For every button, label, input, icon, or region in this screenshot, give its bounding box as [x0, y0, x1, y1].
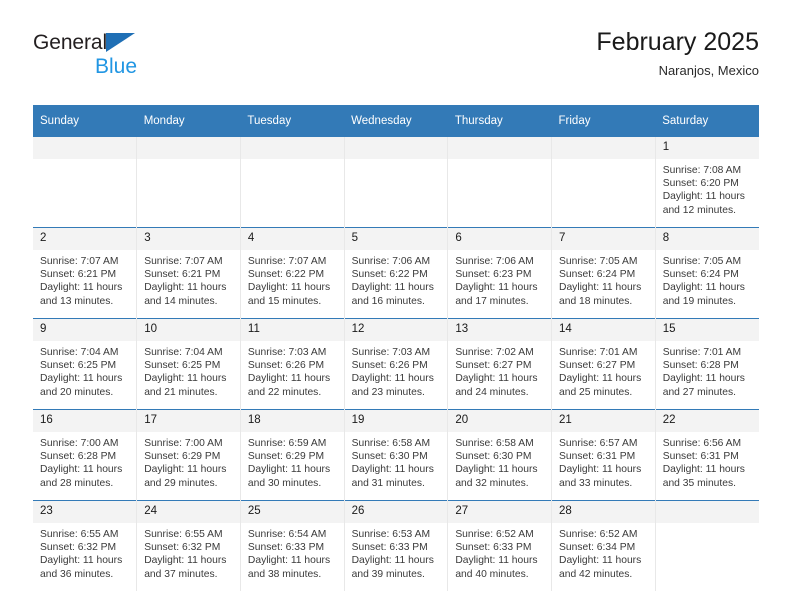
calendar-day-cell[interactable]: 14Sunrise: 7:01 AMSunset: 6:27 PMDayligh…: [552, 319, 656, 410]
day-number: 26: [345, 501, 448, 523]
day-daylight-line: Daylight: 11 hours: [352, 554, 442, 567]
day-daylight-line: and 16 minutes.: [352, 295, 442, 308]
day-number: 24: [137, 501, 240, 523]
weekday-header-monday: Monday: [137, 105, 241, 137]
day-sunrise-line: Sunrise: 7:03 AM: [352, 346, 442, 359]
day-daylight-line: and 29 minutes.: [144, 477, 234, 490]
day-sunset-line: Sunset: 6:29 PM: [144, 450, 234, 463]
day-details: Sunrise: 6:52 AMSunset: 6:34 PMDaylight:…: [552, 523, 655, 581]
day-sunset-line: Sunset: 6:22 PM: [352, 268, 442, 281]
day-sunset-line: Sunset: 6:33 PM: [248, 541, 338, 554]
day-details: Sunrise: 7:00 AMSunset: 6:29 PMDaylight:…: [137, 432, 240, 490]
day-number: 20: [448, 410, 551, 432]
day-sunrise-line: Sunrise: 6:57 AM: [559, 437, 649, 450]
calendar-day-cell[interactable]: 26Sunrise: 6:53 AMSunset: 6:33 PMDayligh…: [344, 501, 448, 592]
calendar-day-cell[interactable]: 1Sunrise: 7:08 AMSunset: 6:20 PMDaylight…: [655, 137, 759, 228]
day-details: Sunrise: 6:54 AMSunset: 6:33 PMDaylight:…: [241, 523, 344, 581]
day-daylight-line: and 33 minutes.: [559, 477, 649, 490]
day-daylight-line: Daylight: 11 hours: [248, 372, 338, 385]
day-sunset-line: Sunset: 6:34 PM: [559, 541, 649, 554]
day-daylight-line: Daylight: 11 hours: [455, 281, 545, 294]
calendar-body: 1Sunrise: 7:08 AMSunset: 6:20 PMDaylight…: [33, 137, 759, 591]
day-daylight-line: and 17 minutes.: [455, 295, 545, 308]
day-daylight-line: and 25 minutes.: [559, 386, 649, 399]
day-number: 10: [137, 319, 240, 341]
day-sunrise-line: Sunrise: 7:06 AM: [455, 255, 545, 268]
day-sunset-line: Sunset: 6:21 PM: [40, 268, 130, 281]
calendar-week-row: 2Sunrise: 7:07 AMSunset: 6:21 PMDaylight…: [33, 228, 759, 319]
day-daylight-line: Daylight: 11 hours: [455, 554, 545, 567]
day-details: Sunrise: 6:55 AMSunset: 6:32 PMDaylight:…: [33, 523, 136, 581]
day-daylight-line: and 39 minutes.: [352, 568, 442, 581]
day-daylight-line: Daylight: 11 hours: [559, 281, 649, 294]
day-daylight-line: Daylight: 11 hours: [352, 463, 442, 476]
day-sunset-line: Sunset: 6:32 PM: [144, 541, 234, 554]
calendar-day-cell[interactable]: 13Sunrise: 7:02 AMSunset: 6:27 PMDayligh…: [448, 319, 552, 410]
day-sunrise-line: Sunrise: 7:03 AM: [248, 346, 338, 359]
day-details: Sunrise: 7:02 AMSunset: 6:27 PMDaylight:…: [448, 341, 551, 399]
calendar-cell-empty: [137, 137, 241, 228]
day-sunset-line: Sunset: 6:26 PM: [248, 359, 338, 372]
day-sunrise-line: Sunrise: 7:05 AM: [559, 255, 649, 268]
day-daylight-line: and 30 minutes.: [248, 477, 338, 490]
weekday-header-wednesday: Wednesday: [344, 105, 448, 137]
calendar-day-cell[interactable]: 27Sunrise: 6:52 AMSunset: 6:33 PMDayligh…: [448, 501, 552, 592]
day-sunrise-line: Sunrise: 6:52 AM: [559, 528, 649, 541]
day-number: 7: [552, 228, 655, 250]
day-sunset-line: Sunset: 6:31 PM: [663, 450, 753, 463]
day-daylight-line: and 28 minutes.: [40, 477, 130, 490]
calendar-cell-empty: [33, 137, 137, 228]
day-daylight-line: Daylight: 11 hours: [559, 372, 649, 385]
day-daylight-line: and 38 minutes.: [248, 568, 338, 581]
day-details: Sunrise: 6:53 AMSunset: 6:33 PMDaylight:…: [345, 523, 448, 581]
day-details: Sunrise: 7:03 AMSunset: 6:26 PMDaylight:…: [345, 341, 448, 399]
page-subtitle: Naranjos, Mexico: [596, 63, 759, 78]
day-sunset-line: Sunset: 6:29 PM: [248, 450, 338, 463]
day-sunrise-line: Sunrise: 6:58 AM: [352, 437, 442, 450]
day-daylight-line: and 24 minutes.: [455, 386, 545, 399]
calendar-header-row: Sunday Monday Tuesday Wednesday Thursday…: [33, 105, 759, 137]
day-daylight-line: Daylight: 11 hours: [559, 554, 649, 567]
day-number: 4: [241, 228, 344, 250]
day-details: Sunrise: 6:58 AMSunset: 6:30 PMDaylight:…: [345, 432, 448, 490]
day-daylight-line: Daylight: 11 hours: [352, 372, 442, 385]
day-sunrise-line: Sunrise: 7:07 AM: [40, 255, 130, 268]
calendar-day-cell[interactable]: 3Sunrise: 7:07 AMSunset: 6:21 PMDaylight…: [137, 228, 241, 319]
day-daylight-line: and 42 minutes.: [559, 568, 649, 581]
day-number: [137, 137, 240, 159]
day-number: 21: [552, 410, 655, 432]
day-number: 5: [345, 228, 448, 250]
calendar-week-row: 9Sunrise: 7:04 AMSunset: 6:25 PMDaylight…: [33, 319, 759, 410]
calendar-day-cell[interactable]: 15Sunrise: 7:01 AMSunset: 6:28 PMDayligh…: [655, 319, 759, 410]
brand-logo[interactable]: General Blue: [33, 32, 243, 88]
day-details: Sunrise: 6:52 AMSunset: 6:33 PMDaylight:…: [448, 523, 551, 581]
calendar-day-cell[interactable]: 9Sunrise: 7:04 AMSunset: 6:25 PMDaylight…: [33, 319, 137, 410]
calendar-week-row: 23Sunrise: 6:55 AMSunset: 6:32 PMDayligh…: [33, 501, 759, 592]
day-daylight-line: Daylight: 11 hours: [144, 372, 234, 385]
day-details: Sunrise: 7:07 AMSunset: 6:21 PMDaylight:…: [33, 250, 136, 308]
day-sunrise-line: Sunrise: 7:04 AM: [40, 346, 130, 359]
day-number: 19: [345, 410, 448, 432]
day-sunrise-line: Sunrise: 7:06 AM: [352, 255, 442, 268]
calendar-table: Sunday Monday Tuesday Wednesday Thursday…: [33, 105, 759, 591]
day-sunset-line: Sunset: 6:24 PM: [663, 268, 753, 281]
calendar-day-cell[interactable]: 2Sunrise: 7:07 AMSunset: 6:21 PMDaylight…: [33, 228, 137, 319]
day-daylight-line: Daylight: 11 hours: [559, 463, 649, 476]
day-daylight-line: Daylight: 11 hours: [144, 554, 234, 567]
day-number: [552, 137, 655, 159]
day-daylight-line: and 20 minutes.: [40, 386, 130, 399]
day-number: 22: [656, 410, 759, 432]
day-daylight-line: and 18 minutes.: [559, 295, 649, 308]
day-sunset-line: Sunset: 6:21 PM: [144, 268, 234, 281]
day-details: Sunrise: 7:07 AMSunset: 6:22 PMDaylight:…: [241, 250, 344, 308]
day-daylight-line: Daylight: 11 hours: [248, 463, 338, 476]
day-number: 11: [241, 319, 344, 341]
calendar-day-cell[interactable]: 21Sunrise: 6:57 AMSunset: 6:31 PMDayligh…: [552, 410, 656, 501]
title-block: February 2025 Naranjos, Mexico: [596, 28, 759, 78]
day-sunrise-line: Sunrise: 7:07 AM: [248, 255, 338, 268]
calendar-day-cell[interactable]: 18Sunrise: 6:59 AMSunset: 6:29 PMDayligh…: [240, 410, 344, 501]
calendar-day-cell[interactable]: 23Sunrise: 6:55 AMSunset: 6:32 PMDayligh…: [33, 501, 137, 592]
page-title: February 2025: [596, 28, 759, 57]
day-daylight-line: Daylight: 11 hours: [663, 281, 753, 294]
day-number: 17: [137, 410, 240, 432]
day-sunrise-line: Sunrise: 7:07 AM: [144, 255, 234, 268]
day-number: 6: [448, 228, 551, 250]
day-daylight-line: and 22 minutes.: [248, 386, 338, 399]
day-daylight-line: Daylight: 11 hours: [144, 281, 234, 294]
day-number: [241, 137, 344, 159]
day-sunrise-line: Sunrise: 6:56 AM: [663, 437, 753, 450]
calendar-day-cell[interactable]: 10Sunrise: 7:04 AMSunset: 6:25 PMDayligh…: [137, 319, 241, 410]
weekday-header-friday: Friday: [552, 105, 656, 137]
day-daylight-line: Daylight: 11 hours: [455, 463, 545, 476]
day-number: 15: [656, 319, 759, 341]
calendar-day-cell[interactable]: 17Sunrise: 7:00 AMSunset: 6:29 PMDayligh…: [137, 410, 241, 501]
day-number: 8: [656, 228, 759, 250]
day-sunrise-line: Sunrise: 7:00 AM: [144, 437, 234, 450]
calendar-day-cell[interactable]: 16Sunrise: 7:00 AMSunset: 6:28 PMDayligh…: [33, 410, 137, 501]
calendar-cell-empty: [448, 137, 552, 228]
calendar-day-cell[interactable]: 19Sunrise: 6:58 AMSunset: 6:30 PMDayligh…: [344, 410, 448, 501]
day-number: 25: [241, 501, 344, 523]
day-sunrise-line: Sunrise: 7:08 AM: [663, 164, 753, 177]
day-sunrise-line: Sunrise: 7:04 AM: [144, 346, 234, 359]
calendar-cell-empty: [240, 137, 344, 228]
day-sunrise-line: Sunrise: 7:01 AM: [559, 346, 649, 359]
day-details: Sunrise: 7:07 AMSunset: 6:21 PMDaylight:…: [137, 250, 240, 308]
day-details: Sunrise: 7:04 AMSunset: 6:25 PMDaylight:…: [33, 341, 136, 399]
calendar-day-cell[interactable]: 4Sunrise: 7:07 AMSunset: 6:22 PMDaylight…: [240, 228, 344, 319]
calendar-day-cell[interactable]: 7Sunrise: 7:05 AMSunset: 6:24 PMDaylight…: [552, 228, 656, 319]
day-sunrise-line: Sunrise: 6:54 AM: [248, 528, 338, 541]
day-details: Sunrise: 7:06 AMSunset: 6:23 PMDaylight:…: [448, 250, 551, 308]
day-daylight-line: Daylight: 11 hours: [248, 281, 338, 294]
day-daylight-line: and 35 minutes.: [663, 477, 753, 490]
logo-triangle-icon: [106, 33, 135, 52]
calendar-day-cell[interactable]: 20Sunrise: 6:58 AMSunset: 6:30 PMDayligh…: [448, 410, 552, 501]
day-number: 14: [552, 319, 655, 341]
day-daylight-line: Daylight: 11 hours: [40, 281, 130, 294]
calendar-day-cell[interactable]: 11Sunrise: 7:03 AMSunset: 6:26 PMDayligh…: [240, 319, 344, 410]
day-sunrise-line: Sunrise: 7:01 AM: [663, 346, 753, 359]
day-sunset-line: Sunset: 6:30 PM: [455, 450, 545, 463]
calendar-day-cell[interactable]: 24Sunrise: 6:55 AMSunset: 6:32 PMDayligh…: [137, 501, 241, 592]
calendar-cell-empty: [344, 137, 448, 228]
day-sunset-line: Sunset: 6:24 PM: [559, 268, 649, 281]
day-daylight-line: Daylight: 11 hours: [663, 372, 753, 385]
day-daylight-line: and 36 minutes.: [40, 568, 130, 581]
day-sunrise-line: Sunrise: 6:58 AM: [455, 437, 545, 450]
day-number: 27: [448, 501, 551, 523]
day-details: Sunrise: 6:58 AMSunset: 6:30 PMDaylight:…: [448, 432, 551, 490]
day-sunrise-line: Sunrise: 7:05 AM: [663, 255, 753, 268]
day-number: 12: [345, 319, 448, 341]
day-daylight-line: Daylight: 11 hours: [352, 281, 442, 294]
day-daylight-line: and 13 minutes.: [40, 295, 130, 308]
day-number: 1: [656, 137, 759, 159]
weekday-header-sunday: Sunday: [33, 105, 137, 137]
day-daylight-line: Daylight: 11 hours: [40, 554, 130, 567]
day-number: 13: [448, 319, 551, 341]
day-sunset-line: Sunset: 6:32 PM: [40, 541, 130, 554]
day-number: [656, 501, 759, 523]
day-details: Sunrise: 7:00 AMSunset: 6:28 PMDaylight:…: [33, 432, 136, 490]
weekday-header-saturday: Saturday: [655, 105, 759, 137]
day-details: Sunrise: 7:01 AMSunset: 6:28 PMDaylight:…: [656, 341, 759, 399]
calendar-day-cell[interactable]: 22Sunrise: 6:56 AMSunset: 6:31 PMDayligh…: [655, 410, 759, 501]
calendar-day-cell[interactable]: 8Sunrise: 7:05 AMSunset: 6:24 PMDaylight…: [655, 228, 759, 319]
calendar-cell-empty: [655, 501, 759, 592]
day-sunrise-line: Sunrise: 6:55 AM: [40, 528, 130, 541]
weekday-header-tuesday: Tuesday: [240, 105, 344, 137]
day-daylight-line: and 12 minutes.: [663, 204, 753, 217]
day-sunset-line: Sunset: 6:28 PM: [663, 359, 753, 372]
day-number: [345, 137, 448, 159]
day-daylight-line: and 40 minutes.: [455, 568, 545, 581]
day-details: Sunrise: 7:05 AMSunset: 6:24 PMDaylight:…: [552, 250, 655, 308]
day-sunset-line: Sunset: 6:30 PM: [352, 450, 442, 463]
page-header: General Blue February 2025 Naranjos, Mex…: [33, 28, 759, 94]
day-sunset-line: Sunset: 6:31 PM: [559, 450, 649, 463]
calendar-day-cell[interactable]: 5Sunrise: 7:06 AMSunset: 6:22 PMDaylight…: [344, 228, 448, 319]
day-sunset-line: Sunset: 6:27 PM: [559, 359, 649, 372]
day-sunset-line: Sunset: 6:25 PM: [40, 359, 130, 372]
calendar-day-cell[interactable]: 12Sunrise: 7:03 AMSunset: 6:26 PMDayligh…: [344, 319, 448, 410]
calendar-week-row: 16Sunrise: 7:00 AMSunset: 6:28 PMDayligh…: [33, 410, 759, 501]
calendar-week-row: 1Sunrise: 7:08 AMSunset: 6:20 PMDaylight…: [33, 137, 759, 228]
day-daylight-line: and 21 minutes.: [144, 386, 234, 399]
day-number: [448, 137, 551, 159]
day-daylight-line: Daylight: 11 hours: [663, 190, 753, 203]
day-daylight-line: and 31 minutes.: [352, 477, 442, 490]
day-sunset-line: Sunset: 6:33 PM: [352, 541, 442, 554]
day-daylight-line: Daylight: 11 hours: [144, 463, 234, 476]
day-daylight-line: and 32 minutes.: [455, 477, 545, 490]
day-sunrise-line: Sunrise: 6:59 AM: [248, 437, 338, 450]
day-number: 9: [33, 319, 136, 341]
day-details: Sunrise: 7:03 AMSunset: 6:26 PMDaylight:…: [241, 341, 344, 399]
day-daylight-line: Daylight: 11 hours: [248, 554, 338, 567]
day-daylight-line: and 37 minutes.: [144, 568, 234, 581]
brand-name-blue: Blue: [95, 56, 243, 77]
day-sunset-line: Sunset: 6:20 PM: [663, 177, 753, 190]
day-number: 18: [241, 410, 344, 432]
day-details: Sunrise: 6:56 AMSunset: 6:31 PMDaylight:…: [656, 432, 759, 490]
day-daylight-line: and 23 minutes.: [352, 386, 442, 399]
day-daylight-line: and 19 minutes.: [663, 295, 753, 308]
day-sunset-line: Sunset: 6:33 PM: [455, 541, 545, 554]
day-details: Sunrise: 7:01 AMSunset: 6:27 PMDaylight:…: [552, 341, 655, 399]
day-sunset-line: Sunset: 6:22 PM: [248, 268, 338, 281]
day-number: 23: [33, 501, 136, 523]
day-details: Sunrise: 7:08 AMSunset: 6:20 PMDaylight:…: [656, 159, 759, 217]
day-sunrise-line: Sunrise: 7:02 AM: [455, 346, 545, 359]
day-daylight-line: Daylight: 11 hours: [455, 372, 545, 385]
day-details: Sunrise: 7:04 AMSunset: 6:25 PMDaylight:…: [137, 341, 240, 399]
day-daylight-line: Daylight: 11 hours: [40, 372, 130, 385]
day-sunset-line: Sunset: 6:27 PM: [455, 359, 545, 372]
day-number: [33, 137, 136, 159]
day-daylight-line: Daylight: 11 hours: [663, 463, 753, 476]
day-number: 2: [33, 228, 136, 250]
day-details: Sunrise: 7:05 AMSunset: 6:24 PMDaylight:…: [656, 250, 759, 308]
day-sunset-line: Sunset: 6:23 PM: [455, 268, 545, 281]
day-number: 3: [137, 228, 240, 250]
day-number: 16: [33, 410, 136, 432]
brand-name-general: General: [33, 32, 107, 53]
day-daylight-line: and 27 minutes.: [663, 386, 753, 399]
calendar-day-cell[interactable]: 6Sunrise: 7:06 AMSunset: 6:23 PMDaylight…: [448, 228, 552, 319]
calendar-page: General Blue February 2025 Naranjos, Mex…: [0, 0, 792, 612]
calendar-cell-empty: [552, 137, 656, 228]
calendar-day-cell[interactable]: 28Sunrise: 6:52 AMSunset: 6:34 PMDayligh…: [552, 501, 656, 592]
day-daylight-line: and 14 minutes.: [144, 295, 234, 308]
day-details: Sunrise: 7:06 AMSunset: 6:22 PMDaylight:…: [345, 250, 448, 308]
day-daylight-line: Daylight: 11 hours: [40, 463, 130, 476]
day-sunrise-line: Sunrise: 6:53 AM: [352, 528, 442, 541]
day-sunrise-line: Sunrise: 7:00 AM: [40, 437, 130, 450]
day-details: Sunrise: 6:57 AMSunset: 6:31 PMDaylight:…: [552, 432, 655, 490]
day-details: Sunrise: 6:59 AMSunset: 6:29 PMDaylight:…: [241, 432, 344, 490]
day-daylight-line: and 15 minutes.: [248, 295, 338, 308]
day-sunset-line: Sunset: 6:25 PM: [144, 359, 234, 372]
day-details: Sunrise: 6:55 AMSunset: 6:32 PMDaylight:…: [137, 523, 240, 581]
day-number: 28: [552, 501, 655, 523]
day-sunset-line: Sunset: 6:26 PM: [352, 359, 442, 372]
calendar-day-cell[interactable]: 25Sunrise: 6:54 AMSunset: 6:33 PMDayligh…: [240, 501, 344, 592]
weekday-header-thursday: Thursday: [448, 105, 552, 137]
day-sunrise-line: Sunrise: 6:55 AM: [144, 528, 234, 541]
day-sunrise-line: Sunrise: 6:52 AM: [455, 528, 545, 541]
day-sunset-line: Sunset: 6:28 PM: [40, 450, 130, 463]
